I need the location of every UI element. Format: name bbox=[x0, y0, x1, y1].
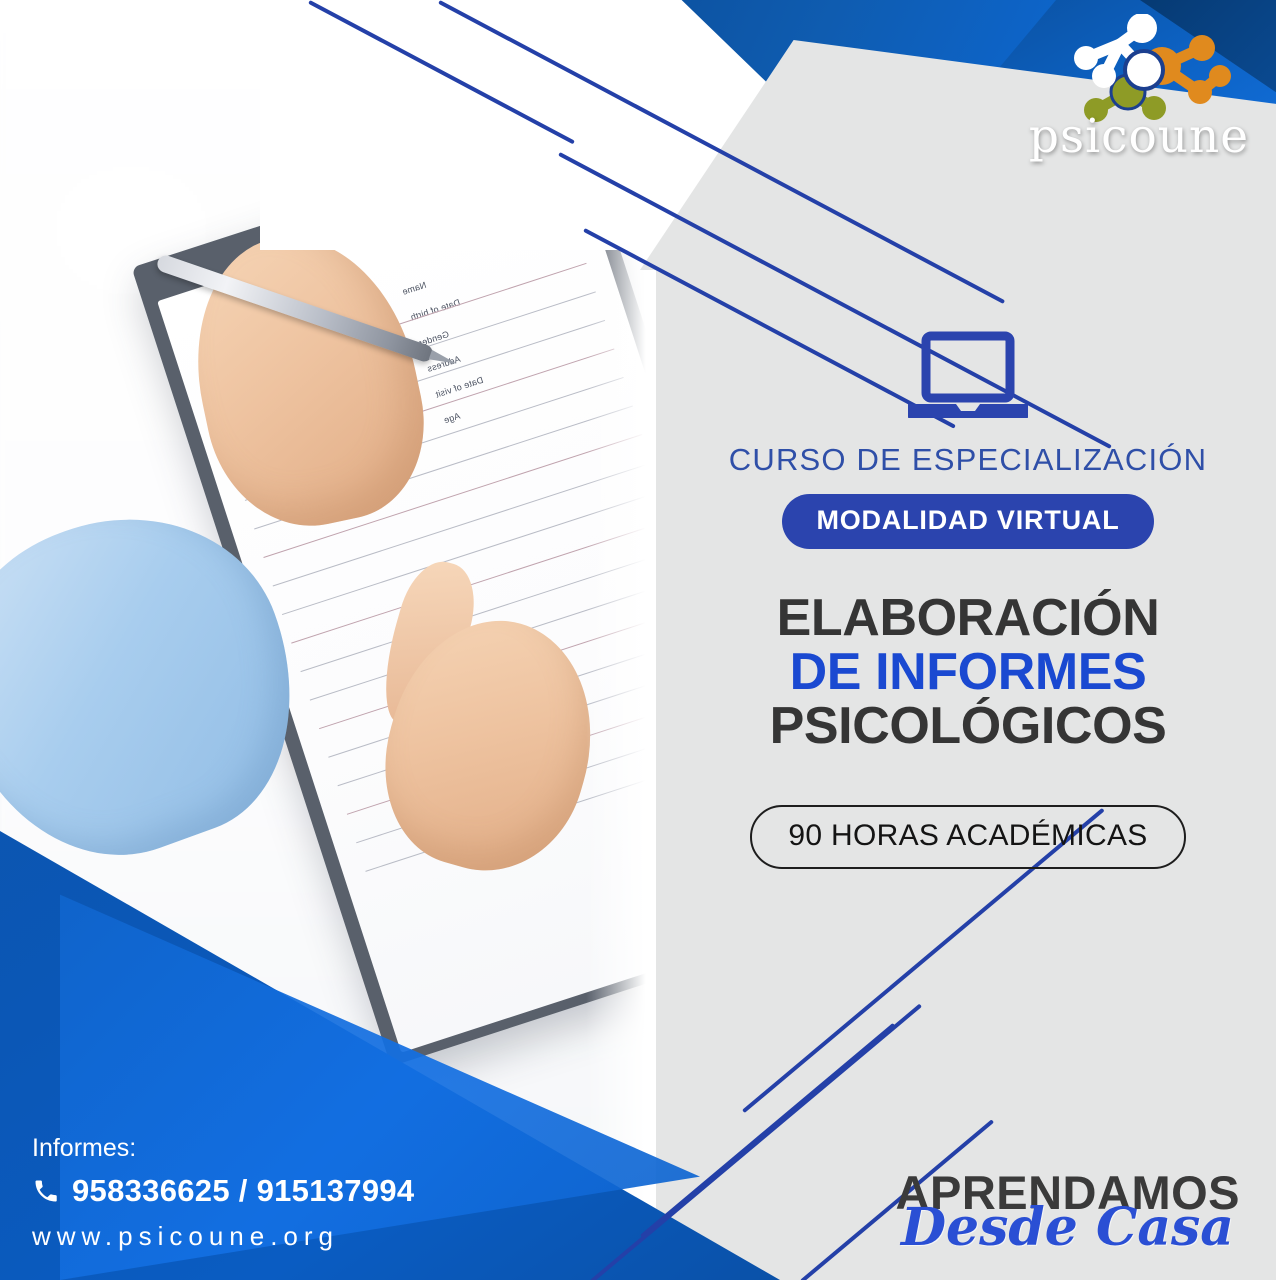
slogan: APRENDAMOS Desde Casa bbox=[896, 1169, 1240, 1254]
phone-row[interactable]: 958336625 / 915137994 bbox=[32, 1173, 414, 1209]
title-line-3: PSICOLÓGICOS bbox=[660, 699, 1276, 753]
laptop-icon bbox=[908, 330, 1028, 422]
slogan-line-2: Desde Casa bbox=[896, 1202, 1234, 1254]
main-content: CURSO DE ESPECIALIZACIÓN MODALIDAD VIRTU… bbox=[660, 330, 1276, 869]
phone-numbers: 958336625 / 915137994 bbox=[72, 1173, 414, 1209]
website-url[interactable]: www.psicoune.org bbox=[32, 1221, 414, 1252]
course-eyebrow: CURSO DE ESPECIALIZACIÓN bbox=[660, 442, 1276, 478]
title-line-1: ELABORACIÓN bbox=[660, 591, 1276, 645]
page-title: ELABORACIÓN DE INFORMES PSICOLÓGICOS bbox=[660, 591, 1276, 753]
modality-badge: MODALIDAD VIRTUAL bbox=[782, 494, 1153, 549]
contact-label: Informes: bbox=[32, 1134, 414, 1163]
brand-logo[interactable]: psicoune bbox=[1024, 14, 1254, 164]
molecule-icon bbox=[1024, 14, 1254, 122]
academic-hours-pill: 90 HORAS ACADÉMICAS bbox=[750, 805, 1185, 869]
promo-poster: Medical card Name Date of birth Gender A… bbox=[0, 0, 1276, 1280]
contact-info: Informes: 958336625 / 915137994 www.psic… bbox=[32, 1134, 414, 1252]
title-line-2: DE INFORMES bbox=[660, 645, 1276, 699]
brand-name: psicoune bbox=[1024, 113, 1254, 160]
phone-icon bbox=[32, 1177, 60, 1205]
